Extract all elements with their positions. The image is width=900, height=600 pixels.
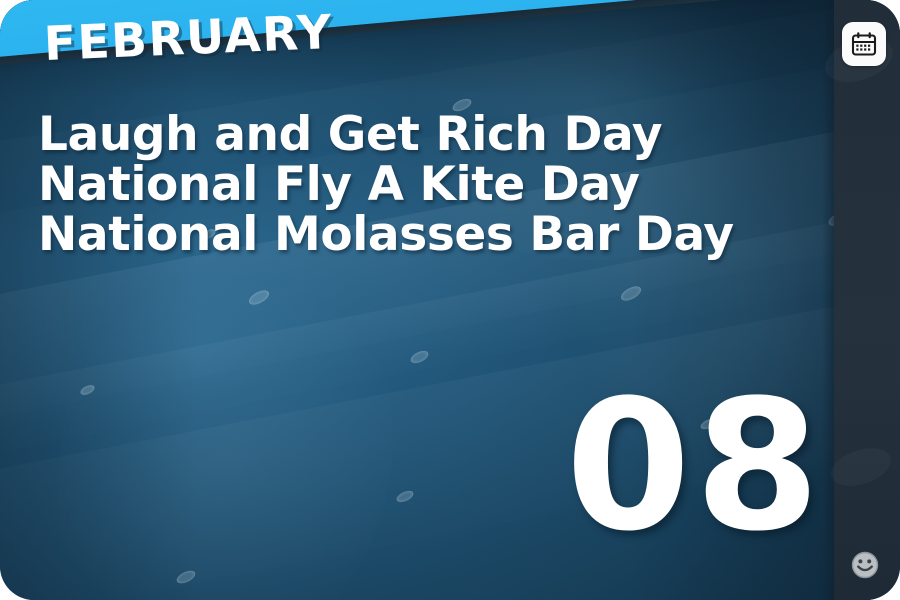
calendar-icon[interactable] — [842, 22, 886, 66]
holiday-item: Laugh and Get Rich Day — [38, 110, 838, 160]
holiday-item: National Molasses Bar Day — [38, 210, 838, 260]
holiday-item: National Fly A Kite Day — [38, 160, 838, 210]
panel-highlight — [826, 441, 895, 492]
holiday-list: Laugh and Get Rich Day National Fly A Ki… — [38, 110, 838, 260]
right-panel — [834, 0, 900, 600]
day-number: 08 — [566, 392, 825, 542]
smiley-face-icon[interactable] — [850, 550, 880, 580]
day-card: FEBRUARY Laugh and Get Rich Day National… — [0, 0, 900, 600]
